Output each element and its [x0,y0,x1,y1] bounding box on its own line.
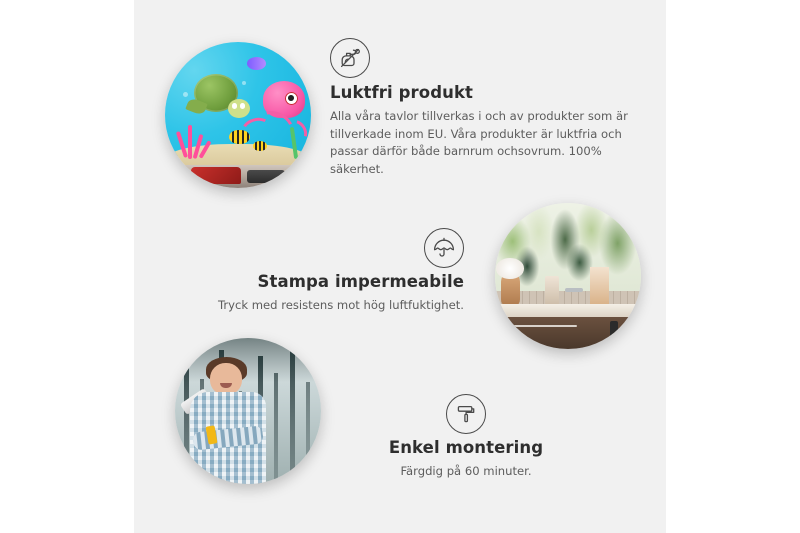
no-odour-perfume-bottle-icon [330,38,370,78]
feature-title: Enkel montering [346,439,586,458]
white-flowers [496,258,524,278]
pink-coral [177,124,209,159]
faucet [565,288,583,292]
feature-description: Alla våra tavlor tillverkas i och av pro… [330,108,630,178]
octopus-eye [285,92,298,105]
hanging-towel [590,267,609,305]
bathroom-tropical-leaf-wallpaper-photo [495,203,641,349]
feature-panel: Luktfri produkt Alla våra tavlor tillver… [134,0,666,533]
feature-block-odour-free: Luktfri produkt Alla våra tavlor tillver… [330,38,630,178]
bubble-icon [183,92,188,97]
soap-dispenser [545,276,560,305]
feature-icon-wrap [346,394,586,434]
wood-vanity-cabinet [495,317,641,349]
feature-block-easy-assembly: Enkel montering Färgdig på 60 minuter. [346,394,586,481]
feature-description: Färgdig på 60 minuter. [346,463,586,481]
turtle-head [228,99,250,118]
forest-canopy-shadow [175,338,321,382]
yellow-striped-fish-icon [229,130,249,145]
stone-countertop [495,304,641,317]
feature-title: Stampa impermeabile [194,273,464,292]
woman-paint-roller-forest-wallpaper-photo [175,338,321,484]
feature-block-waterproof: Stampa impermeabile Tryck med resistens … [194,228,464,315]
umbrella-waterproof-icon [424,228,464,268]
underwater-sea-life-mural-photo [165,42,311,188]
purple-fish-icon [247,57,266,70]
feature-icon-wrap [330,38,630,78]
feature-description: Tryck med resistens mot hög luftfuktighe… [194,297,464,315]
room-interior-foreground [165,165,311,188]
paint-roller-icon [446,394,486,434]
screenshot-stage: Luktfri produkt Alla våra tavlor tillver… [0,0,800,533]
woman-face [210,363,242,395]
feature-icon-wrap [194,228,464,268]
feature-title: Luktfri produkt [330,84,630,103]
